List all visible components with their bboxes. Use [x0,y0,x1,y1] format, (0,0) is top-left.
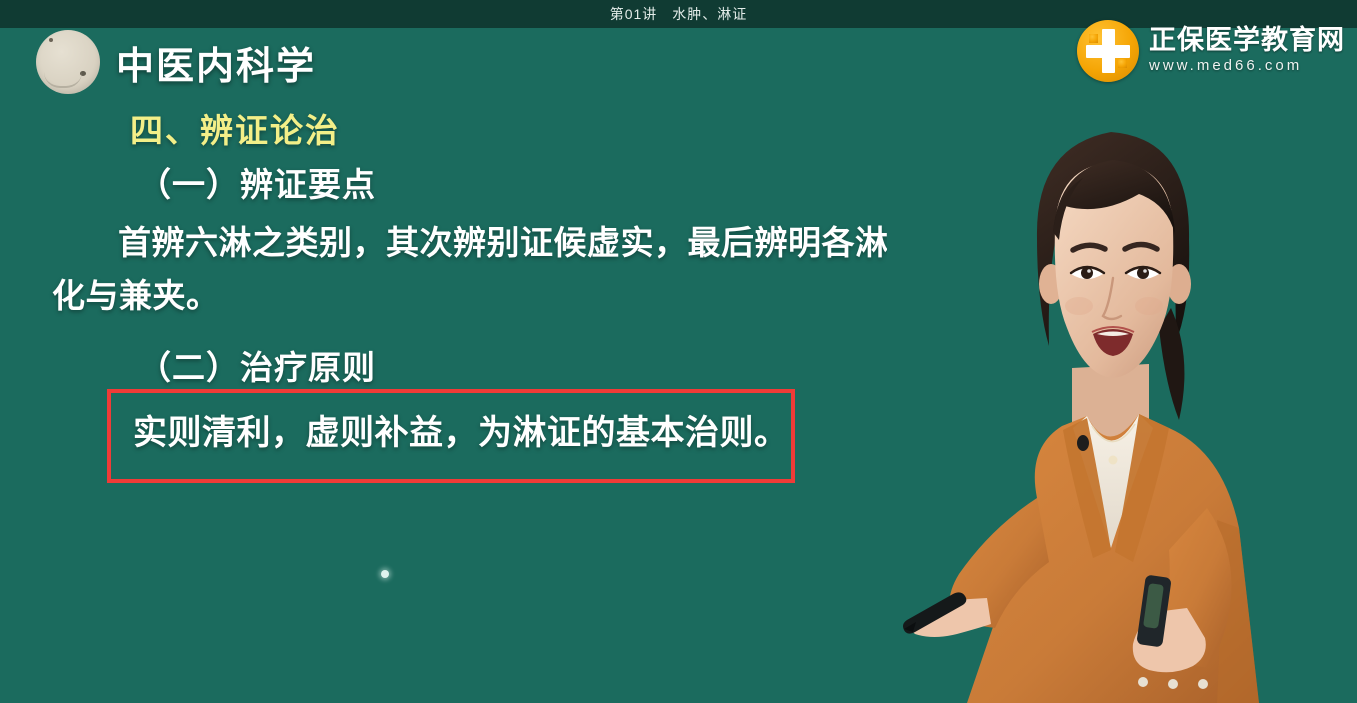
laser-pointer-dot-icon [381,570,389,578]
brand-text-block: 正保医学教育网 www.med66.com [1149,26,1345,75]
presenter-illustration [887,28,1357,703]
brand-url-label: www.med66.com [1149,57,1345,76]
sub-heading-zhiliao: （二）治疗原则 [138,341,1010,389]
circle-ornament-icon [36,30,100,94]
section-heading: 四、辨证论治 [130,104,1010,152]
course-title-block: 中医内科学 [36,30,316,94]
sub-heading-bianzheng: （一）辨证要点 [138,158,1010,206]
presenter-video [887,28,1357,703]
brand-logo: 正保医学教育网 www.med66.com [1077,20,1345,82]
slide-content: 四、辨证论治 （一）辨证要点 首辨六淋之类别，其次辨别证候虚实，最后辨明各淋证的… [0,104,1010,393]
course-title-label: 中医内科学 [116,35,316,90]
lecture-slide-screen: 第01讲 水肿、淋证 正保医学教育网 www.med66.com 中医内科学 四… [0,0,1357,703]
highlight-text-label: 实则清利，虚则补益，为淋证的基本治则。 [111,405,799,454]
brand-name-label: 正保医学教育网 [1149,26,1345,54]
highlight-box: 实则清利，虚则补益，为淋证的基本治则。 [107,389,795,483]
med66-cross-icon [1077,20,1139,82]
paragraph-bianzheng: 首辨六淋之类别，其次辨别证候虚实，最后辨明各淋证的转化与兼夹。 [52,216,992,323]
